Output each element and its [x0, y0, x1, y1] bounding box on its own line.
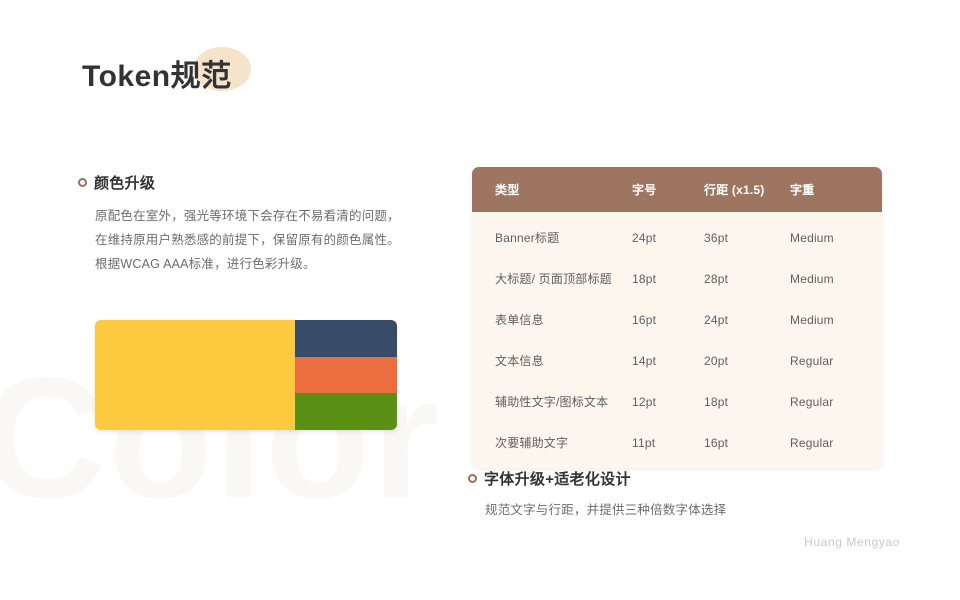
- swatch-green: [295, 393, 397, 430]
- column-header-type: 类型: [472, 167, 632, 212]
- table-body: Banner标题 24pt 36pt Medium 大标题/ 页面顶部标题 18…: [472, 212, 882, 468]
- swatch-orange: [295, 357, 397, 394]
- cell-leading: 20pt: [704, 340, 790, 381]
- ring-bullet-icon: [468, 474, 477, 483]
- font-section-body: 规范文字与行距，并提供三种倍数字体选择: [485, 498, 868, 522]
- swatch-primary-yellow: [95, 320, 295, 430]
- column-header-leading: 行距 (x1.5): [704, 167, 790, 212]
- color-upgrade-section: 颜色升级 原配色在室外，强光等环境下会存在不易看清的问题，在维持原用户熟悉感的前…: [78, 172, 408, 276]
- cell-leading: 18pt: [704, 381, 790, 422]
- font-section-heading: 字体升级+适老化设计: [468, 468, 868, 489]
- color-section-body: 原配色在室外，强光等环境下会存在不易看清的问题，在维持原用户熟悉感的前提下，保留…: [95, 204, 408, 276]
- font-upgrade-section: 字体升级+适老化设计 规范文字与行距，并提供三种倍数字体选择: [468, 468, 868, 522]
- cell-type: 次要辅助文字: [472, 422, 632, 468]
- ring-bullet-icon: [78, 178, 87, 187]
- color-swatch-group: [95, 320, 397, 430]
- cell-type: Banner标题: [472, 212, 632, 258]
- cell-weight: Regular: [790, 422, 882, 468]
- cell-type: 文本信息: [472, 340, 632, 381]
- typography-table: 类型 字号 行距 (x1.5) 字重 Banner标题 24pt 36pt Me…: [472, 167, 882, 468]
- slide-canvas: Color Token规范 颜色升级 原配色在室外，强光等环境下会存在不易看清的…: [0, 0, 960, 600]
- cell-weight: Medium: [790, 299, 882, 340]
- swatch-stack: [295, 320, 397, 430]
- cell-size: 24pt: [632, 212, 704, 258]
- table-row: 文本信息 14pt 20pt Regular: [472, 340, 882, 381]
- cell-weight: Medium: [790, 258, 882, 299]
- cell-weight: Medium: [790, 212, 882, 258]
- cell-size: 11pt: [632, 422, 704, 468]
- table-row: 辅助性文字/图标文本 12pt 18pt Regular: [472, 381, 882, 422]
- column-header-weight: 字重: [790, 167, 882, 212]
- cell-weight: Regular: [790, 340, 882, 381]
- cell-type: 辅助性文字/图标文本: [472, 381, 632, 422]
- author-credit: Huang Mengyao: [804, 535, 900, 549]
- color-section-title: 颜色升级: [94, 172, 155, 193]
- font-section-title: 字体升级+适老化设计: [484, 468, 631, 489]
- typography-table-card: 类型 字号 行距 (x1.5) 字重 Banner标题 24pt 36pt Me…: [472, 167, 882, 468]
- cell-size: 18pt: [632, 258, 704, 299]
- table-row: 次要辅助文字 11pt 16pt Regular: [472, 422, 882, 468]
- table-row: 表单信息 16pt 24pt Medium: [472, 299, 882, 340]
- cell-size: 16pt: [632, 299, 704, 340]
- cell-leading: 24pt: [704, 299, 790, 340]
- cell-leading: 16pt: [704, 422, 790, 468]
- page-title: Token规范: [82, 55, 232, 99]
- cell-leading: 36pt: [704, 212, 790, 258]
- swatch-navy: [295, 320, 397, 357]
- cell-weight: Regular: [790, 381, 882, 422]
- page-title-text: Token规范: [82, 55, 232, 99]
- color-section-heading: 颜色升级: [78, 172, 408, 193]
- table-row: Banner标题 24pt 36pt Medium: [472, 212, 882, 258]
- table-header-row: 类型 字号 行距 (x1.5) 字重: [472, 167, 882, 212]
- column-header-size: 字号: [632, 167, 704, 212]
- cell-size: 12pt: [632, 381, 704, 422]
- cell-type: 表单信息: [472, 299, 632, 340]
- table-header: 类型 字号 行距 (x1.5) 字重: [472, 167, 882, 212]
- table-row: 大标题/ 页面顶部标题 18pt 28pt Medium: [472, 258, 882, 299]
- cell-size: 14pt: [632, 340, 704, 381]
- cell-leading: 28pt: [704, 258, 790, 299]
- cell-type: 大标题/ 页面顶部标题: [472, 258, 632, 299]
